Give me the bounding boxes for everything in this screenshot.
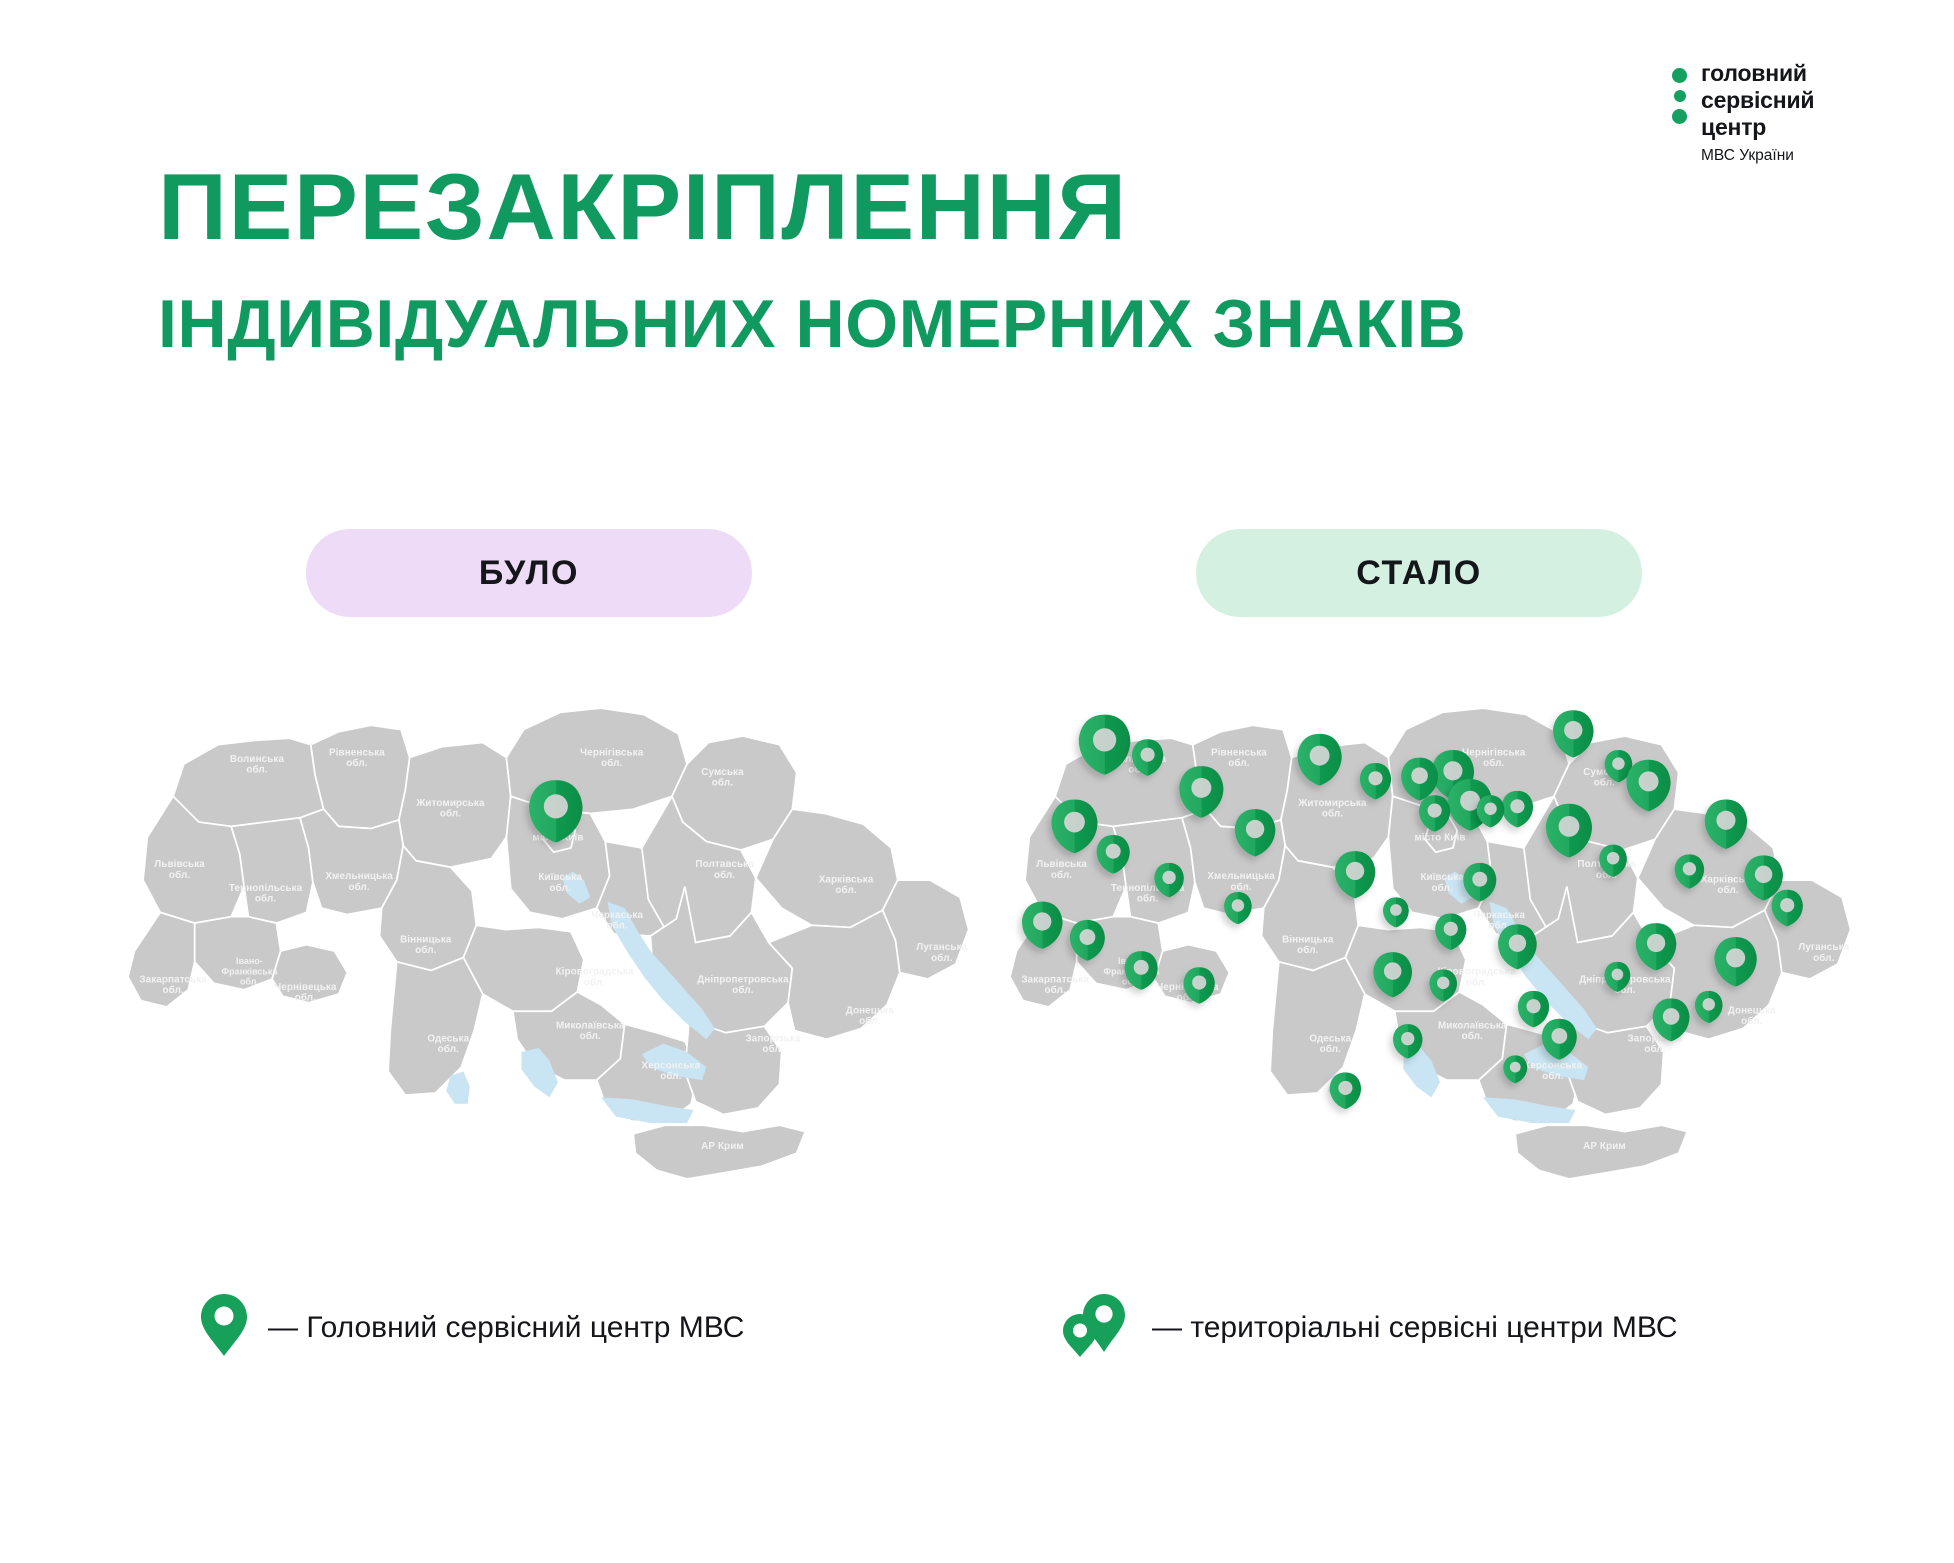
map-pin-icon [1502,791,1533,828]
region-ternopilR [231,818,313,923]
map-pin-icon [1330,1073,1361,1110]
region-label-crimea: АР Крим [1583,1141,1626,1152]
region-crimeaR [1515,1125,1687,1179]
map-pin-icon [200,1292,248,1363]
title-line-1: ПЕРЕЗАКРІПЛЕННЯ [158,160,1892,254]
infographic-page: головний сервісний центр МВС України ПЕР… [0,0,1954,1563]
brand-logo: головний сервісний центр МВС України [1672,60,1814,166]
ukraine-outline [128,708,969,1179]
region-label-chernivtsi: Чернівецькаобл. [274,982,337,1004]
legend-before-text: — Головний сервісний центр МВС [268,1311,744,1345]
region-crimeaR [633,1125,805,1179]
title-line-2: ІНДИВІДУАЛЬНИХ НОМЕРНИХ ЗНАКІВ [158,290,1858,358]
label-after-pill: СТАЛО [1196,529,1642,617]
map-before: Волинськаобл.Рівненськаобл.Житомирськаоб… [128,690,988,1210]
region-label-crimea: АР Крим [701,1141,744,1152]
region-volyn [173,738,324,826]
label-before-pill: БУЛО [306,529,752,617]
logo-line-1: головний [1701,60,1814,87]
legend-after: — територіальні сервісні центри МВС [1060,1292,1678,1363]
region-ivanoR [195,917,281,990]
three-dots-icon [1672,60,1687,124]
region-label-kyiv-city: місто Київ [1414,832,1465,843]
legend-after-text: — територіальні сервісні центри МВС [1152,1311,1678,1345]
double-map-pin-icon [1060,1292,1132,1363]
page-title: ПЕРЕЗАКРІПЛЕННЯ ІНДИВІДУАЛЬНИХ НОМЕРНИХ … [158,160,1858,358]
logo-line-3: центр [1701,114,1814,141]
logo-line-2: сервісний [1701,87,1814,114]
region-zakarpattiaR [128,912,195,1007]
map-after: Волинськаобл.Рівненськаобл.Житомирськаоб… [1010,690,1870,1210]
brand-logo-text: головний сервісний центр МВС України [1701,60,1814,166]
legend-before: — Головний сервісний центр МВС [200,1292,744,1363]
map-pin-icon [1518,991,1549,1028]
map-pin-icon [1383,897,1409,927]
region-ternopilR [1113,818,1195,923]
map-pin-icon [1224,892,1252,924]
region-odesaR [388,958,483,1096]
